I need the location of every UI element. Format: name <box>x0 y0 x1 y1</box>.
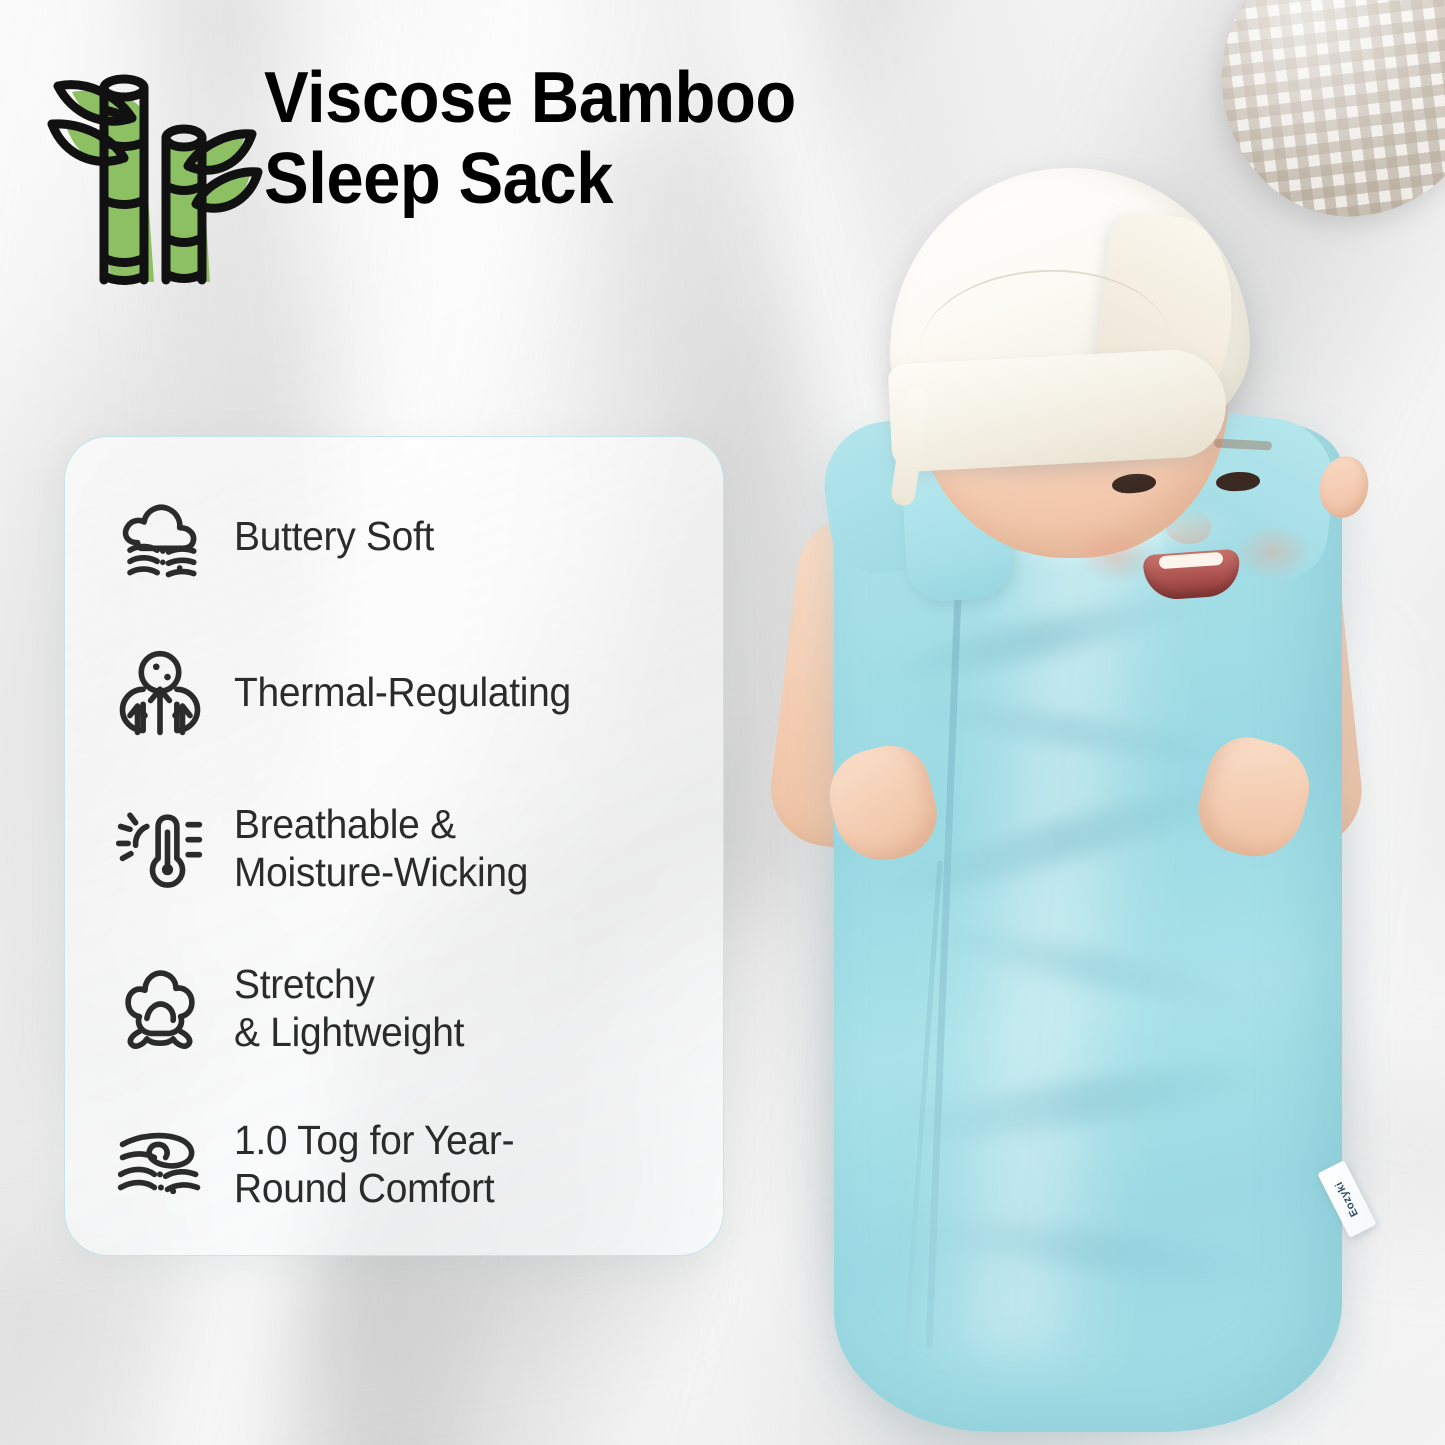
baby-cheek <box>1234 524 1312 580</box>
feature-label: 1.0 Tog for Year- Round Comfort <box>234 1117 514 1212</box>
thermometer-sun-icon <box>112 801 208 897</box>
cloud-soft-icon <box>112 489 208 585</box>
feature-label: Stretchy & Lightweight <box>234 961 464 1056</box>
feature-label: Thermal-Regulating <box>234 669 571 717</box>
feature-label: Breathable & Moisture-Wicking <box>234 801 528 896</box>
page-title: Viscose Bamboo Sleep Sack <box>264 58 1024 221</box>
baby-nose <box>1166 510 1212 544</box>
cotton-boll-icon <box>112 961 208 1057</box>
feature-item-stretchy: Stretchy & Lightweight <box>112 950 712 1068</box>
feature-item-buttery-soft: Buttery Soft <box>112 478 712 596</box>
title-line-2: Sleep Sack <box>264 139 971 220</box>
feature-item-tog: 1.0 Tog for Year- Round Comfort <box>112 1106 712 1224</box>
features-list: Buttery Soft Thermal-Regulating <box>112 478 712 1262</box>
feature-item-thermal-regulating: Thermal-Regulating <box>112 634 712 752</box>
baby-eye <box>1111 472 1156 495</box>
brand-tag-text: Eozyki <box>1333 1179 1361 1218</box>
title-line-1: Viscose Bamboo <box>264 58 971 139</box>
infographic-canvas: Eozyki <box>0 0 1445 1445</box>
bamboo-icon <box>38 52 270 288</box>
feature-item-breathable: Breathable & Moisture-Wicking <box>112 790 712 908</box>
feature-label: Buttery Soft <box>234 513 434 561</box>
thermal-arrows-icon <box>112 645 208 741</box>
feather-waves-icon <box>112 1117 208 1213</box>
product-photo: Eozyki <box>770 120 1410 1445</box>
